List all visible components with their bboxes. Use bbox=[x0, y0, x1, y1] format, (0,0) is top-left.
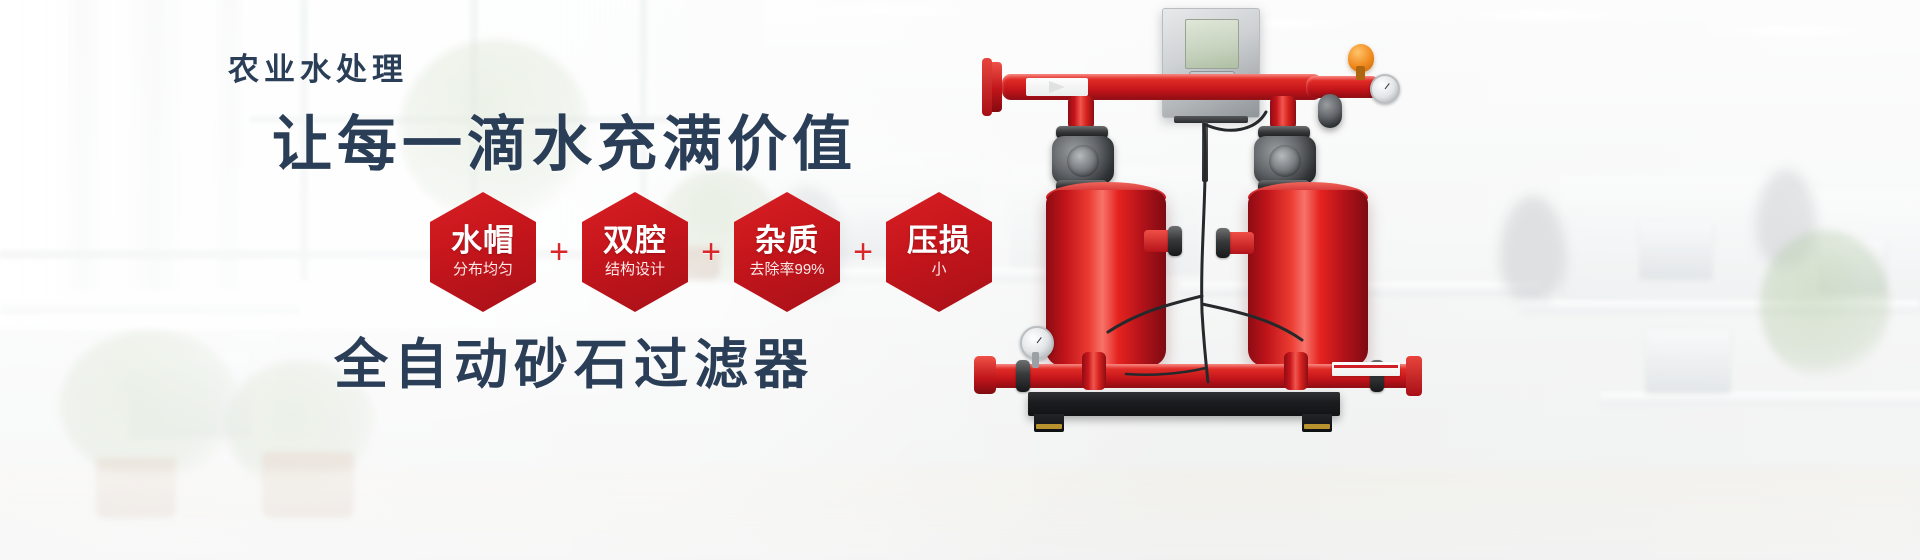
badge-subtitle: 分布均匀 bbox=[453, 262, 513, 279]
feature-badge-dual-chamber: 双腔 结构设计 bbox=[582, 192, 688, 312]
badge-title: 压损 bbox=[907, 225, 971, 258]
feature-badge-pressure-loss: 压损 小 bbox=[886, 192, 992, 312]
badge-title: 双腔 bbox=[603, 225, 667, 258]
badge-subtitle: 去除率99% bbox=[749, 262, 824, 279]
product-name-headline: 全自动砂石过滤器 bbox=[334, 320, 814, 399]
plus-separator-1: + bbox=[536, 235, 582, 269]
skid-foot-pad-right bbox=[1304, 424, 1330, 429]
badge-title: 杂质 bbox=[755, 225, 819, 258]
feature-badge-water-cap: 水帽 分布均匀 bbox=[430, 192, 536, 312]
headline-text: 让每一滴水充满价值 bbox=[272, 96, 857, 183]
badge-subtitle: 小 bbox=[931, 262, 946, 279]
top-pipe-right-extension bbox=[1306, 76, 1380, 98]
controller-screen bbox=[1185, 19, 1239, 69]
plus-separator-3: + bbox=[840, 235, 886, 269]
feature-badge-impurity: 杂质 去除率99% bbox=[734, 192, 840, 312]
promo-banner: BACCARA bbox=[0, 0, 1920, 560]
plus-separator-2: + bbox=[688, 235, 734, 269]
control-cable-harness bbox=[1080, 96, 1340, 396]
badge-title: 水帽 bbox=[451, 225, 515, 258]
badge-subtitle: 结构设计 bbox=[605, 262, 665, 279]
gauge-needle-icon bbox=[1385, 83, 1390, 89]
product-label-strip bbox=[1332, 362, 1400, 376]
eyebrow-text: 农业水处理 bbox=[228, 44, 408, 89]
air-valve-stem bbox=[1356, 66, 1365, 80]
label-strip-accent bbox=[1334, 365, 1398, 368]
pressure-gauge-top bbox=[1370, 74, 1400, 104]
banner-copy-block: 农业水处理 让每一滴水充满价值 水帽 分布均匀 + 双腔 结构设计 + 杂质 去… bbox=[0, 0, 1100, 560]
feature-badge-row: 水帽 分布均匀 + 双腔 结构设计 + 杂质 去除率99% + 压损 小 bbox=[430, 192, 992, 312]
skid-foot-right bbox=[1302, 414, 1332, 432]
manifold-right-flange bbox=[1406, 356, 1422, 396]
